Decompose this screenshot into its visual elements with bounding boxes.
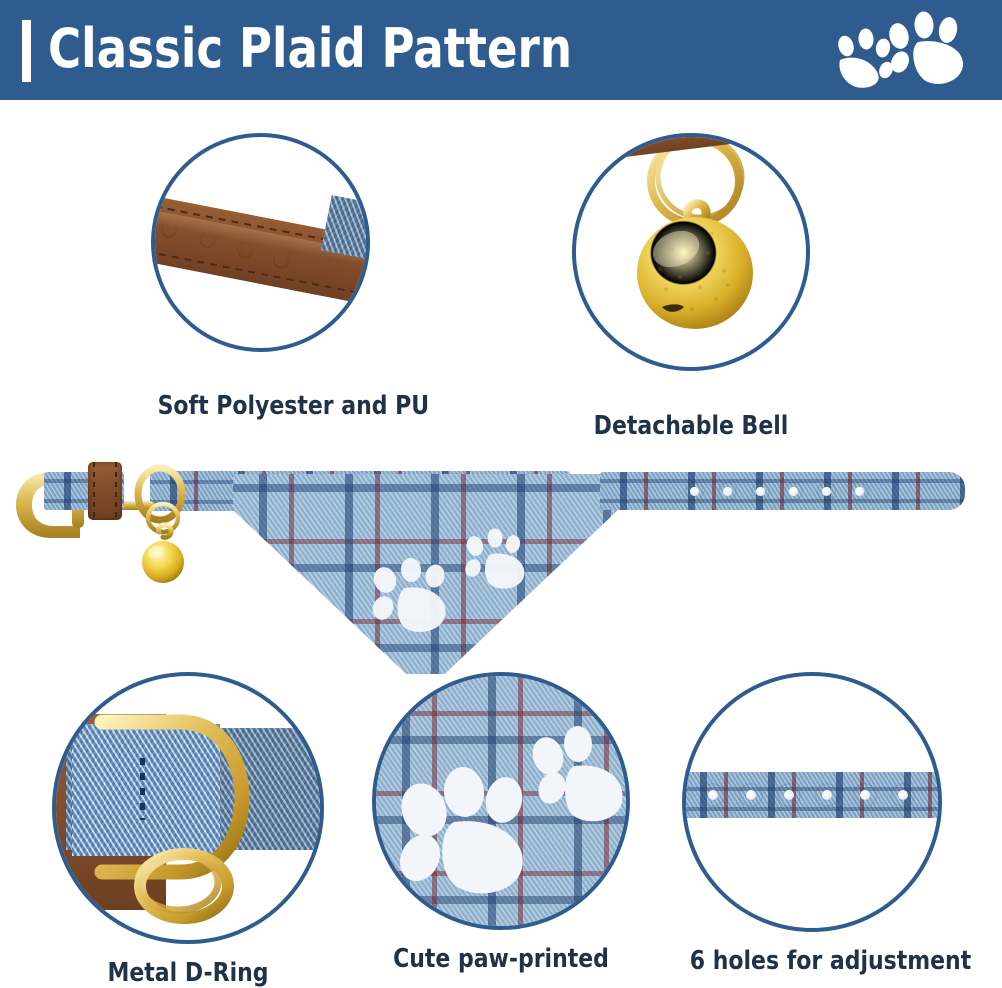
paw-prints-icon bbox=[824, 8, 974, 92]
feature-detachable-bell: Detachable Bell bbox=[572, 133, 810, 428]
leather-keeper-loop bbox=[88, 462, 122, 520]
eyelet-hole bbox=[851, 483, 868, 500]
eyelet-hole bbox=[785, 483, 802, 500]
d-ring-svg bbox=[56, 676, 324, 944]
eyelet-hole bbox=[686, 483, 703, 500]
denim-strap-edge bbox=[321, 195, 370, 259]
feature-cute-paw-printed: Cute paw-printed bbox=[372, 672, 630, 976]
feature-circle-image bbox=[372, 672, 630, 930]
feature-circle-image bbox=[52, 672, 324, 944]
collar-strap-right bbox=[600, 472, 965, 510]
feature-caption: Detachable Bell bbox=[579, 411, 803, 441]
bell-small-svg bbox=[128, 496, 198, 606]
keeper-stitching bbox=[93, 462, 95, 520]
rivet bbox=[272, 251, 291, 270]
eyelet-hole bbox=[778, 784, 800, 806]
eyelet-hole bbox=[752, 483, 769, 500]
rivet bbox=[236, 241, 255, 260]
paw-print-embroidery bbox=[233, 474, 618, 674]
eyelet-hole bbox=[740, 784, 762, 806]
header-accent-bar bbox=[22, 20, 31, 82]
feature-soft-polyester-and-pu: Soft Polyester and PU bbox=[151, 133, 370, 428]
d-ring-closeup-image bbox=[56, 676, 320, 940]
eyelets-closeup-image bbox=[686, 676, 938, 928]
bell-svg bbox=[576, 137, 810, 371]
eyelet-hole bbox=[702, 784, 724, 806]
eyelet-hole bbox=[854, 784, 876, 806]
feature-caption: Soft Polyester and PU bbox=[158, 391, 364, 421]
eyelet-hole bbox=[816, 784, 838, 806]
keeper-stitching bbox=[115, 462, 117, 520]
feature-caption: 6 holes for adjustment bbox=[690, 946, 934, 976]
feature-caption: Cute paw-printed bbox=[380, 944, 623, 974]
main-product-image bbox=[0, 452, 1002, 662]
paw-print-embroidery bbox=[376, 676, 630, 930]
eyelet-hole bbox=[719, 483, 736, 500]
feature-caption: Metal D-Ring bbox=[60, 958, 316, 988]
plaid-bandana bbox=[233, 474, 618, 674]
feature-circle-image bbox=[151, 133, 370, 352]
feature-metal-d-ring: Metal D-Ring bbox=[52, 672, 324, 976]
page-title: Classic Plaid Pattern bbox=[48, 16, 572, 82]
eyelet-hole bbox=[818, 483, 835, 500]
page-header: Classic Plaid Pattern bbox=[0, 0, 1002, 100]
plaid-strap-with-eyelets bbox=[682, 772, 942, 818]
gold-bell-image bbox=[576, 137, 806, 367]
leather-strap-with-rivets-image bbox=[155, 137, 366, 348]
feature-circle-image bbox=[682, 672, 942, 932]
eyelet-hole bbox=[892, 784, 914, 806]
paw-print-closeup-image bbox=[376, 676, 626, 926]
feature-circle-image bbox=[572, 133, 810, 371]
feature-6-holes-for-adjustment: 6 holes for adjustment bbox=[682, 672, 942, 976]
